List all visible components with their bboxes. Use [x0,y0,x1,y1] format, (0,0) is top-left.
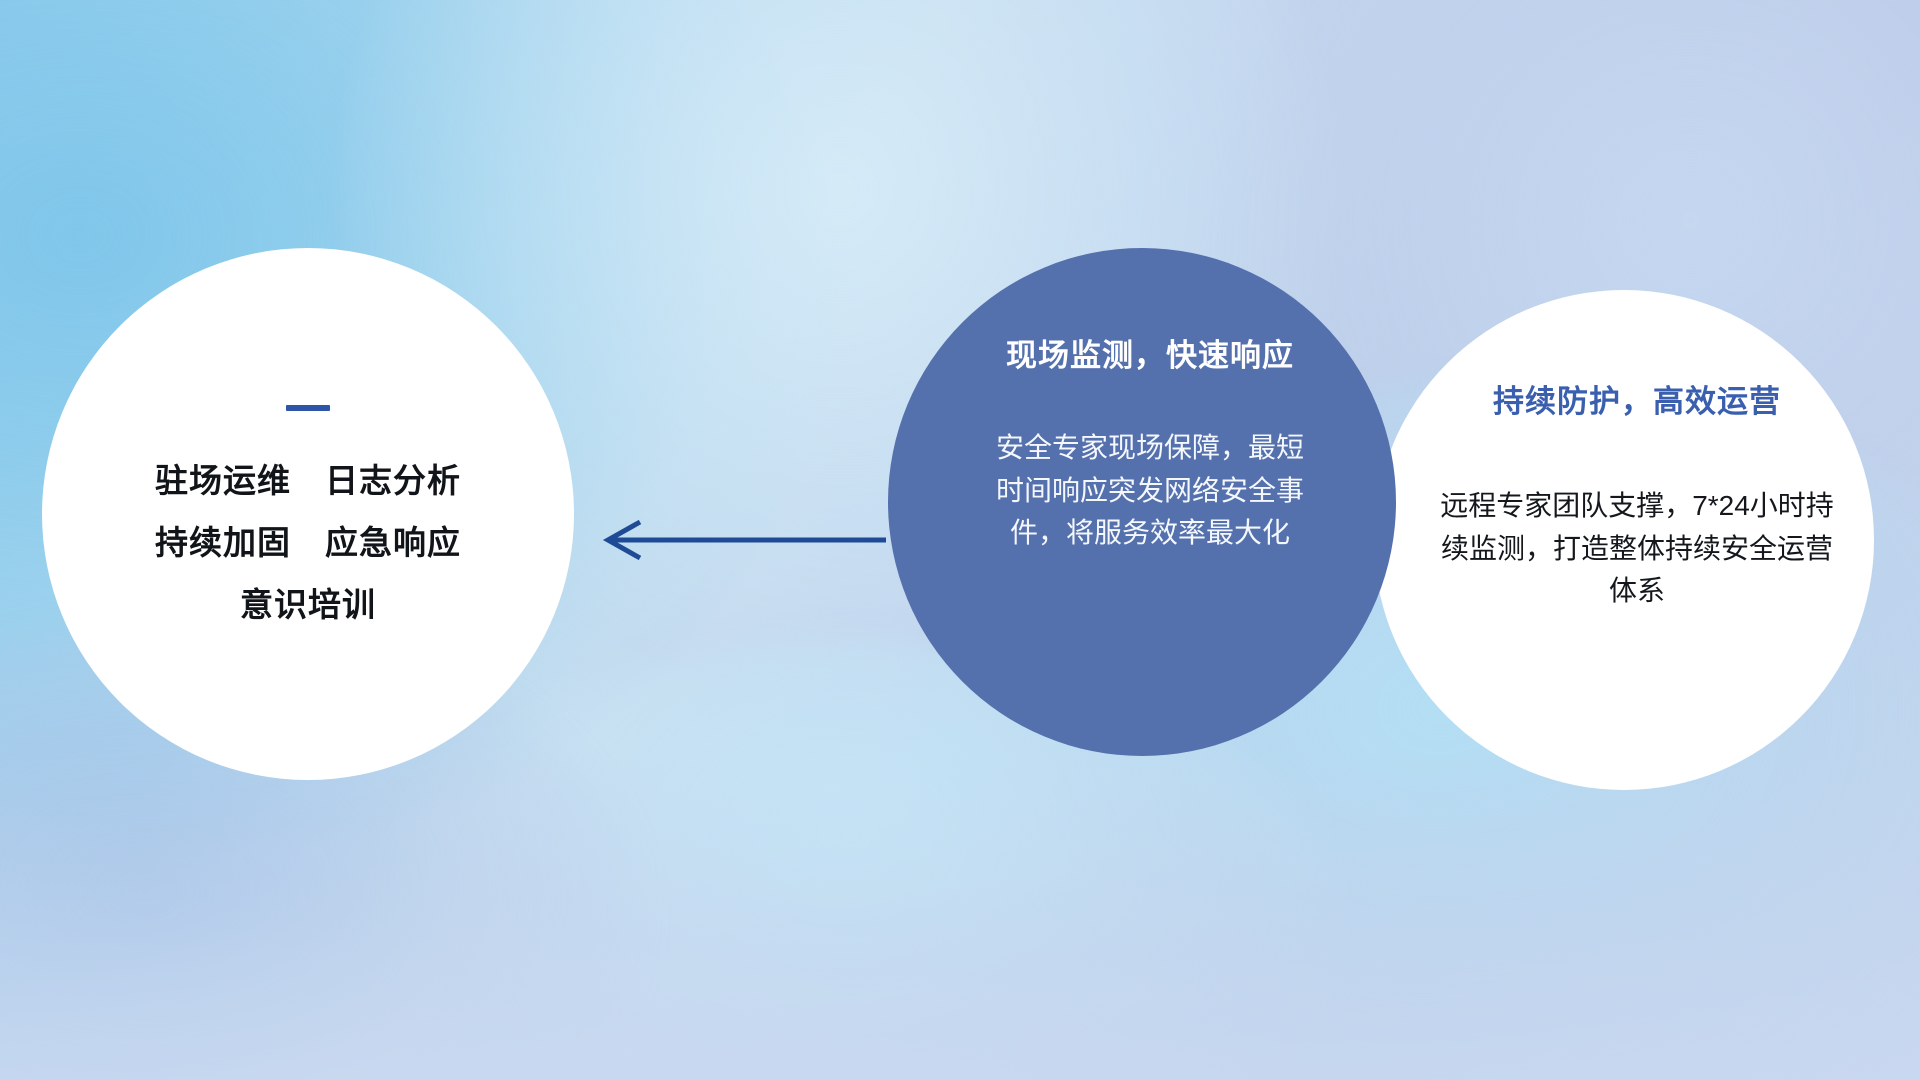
background-bottom-wash [0,750,1920,1080]
capability-tag[interactable]: 持续加固 [155,525,291,561]
capability-tag[interactable]: 意识培训 [240,587,376,623]
service-circle-middle[interactable]: 现场监测，快速响应 安全专家现场保障，最短时间响应突发网络安全事件，将服务效率最… [888,248,1396,756]
service-content-middle: 现场监测，快速响应 安全专家现场保障，最短时间响应突发网络安全事件，将服务效率最… [888,248,1396,756]
capability-tag-row: 意识培训 [240,587,376,623]
capability-tag-row: 持续加固 应急响应 [155,525,461,561]
flow-arrow-left [596,516,886,564]
service-body-right: 远程专家团队支撑，7*24小时持续监测，打造整体持续安全运营体系 [1437,485,1837,613]
capability-tag[interactable]: 应急响应 [325,525,461,561]
capability-tag[interactable]: 日志分析 [325,463,461,499]
service-circle-right[interactable]: 持续防护，高效运营 远程专家团队支撑，7*24小时持续监测，打造整体持续安全运营… [1374,290,1874,790]
slide-canvas: 驻场运维 日志分析 持续加固 应急响应 意识培训 持续防护，高效运营 远程专家团… [0,0,1920,1080]
accent-dash-divider [286,405,330,411]
service-title-middle: 现场监测，快速响应 [1006,330,1294,375]
capability-tag-row: 驻场运维 日志分析 [155,463,461,499]
capability-tag-list: 驻场运维 日志分析 持续加固 应急响应 意识培训 [155,463,461,624]
arrow-left-icon [596,516,886,564]
service-body-middle: 安全专家现场保障，最短时间响应突发网络安全事件，将服务效率最大化 [985,427,1315,555]
capability-content: 驻场运维 日志分析 持续加固 应急响应 意识培训 [42,248,574,780]
capability-circle-left[interactable]: 驻场运维 日志分析 持续加固 应急响应 意识培训 [42,248,574,780]
service-content-right: 持续防护，高效运营 远程专家团队支撑，7*24小时持续监测，打造整体持续安全运营… [1374,290,1874,790]
service-title-right: 持续防护，高效运营 [1493,376,1781,421]
capability-tag[interactable]: 驻场运维 [155,463,291,499]
